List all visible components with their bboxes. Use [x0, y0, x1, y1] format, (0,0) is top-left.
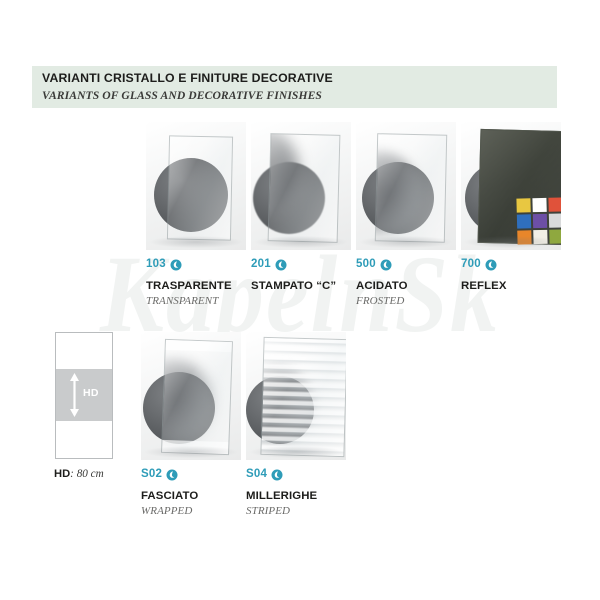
- glass-drop-badge-icon: [380, 259, 392, 271]
- ground-shadow: [465, 236, 557, 248]
- caption-s02: S02 FASCIATO WRAPPED: [141, 468, 198, 518]
- sample-code: 700: [461, 259, 481, 271]
- glass-pane: [260, 337, 346, 457]
- caption-500: 500 ACIDATO FROSTED: [356, 258, 408, 308]
- ground-shadow: [145, 446, 237, 458]
- sample-card-s04[interactable]: [246, 332, 346, 460]
- sample-photo-fasciato: [141, 332, 241, 460]
- sample-code: 500: [356, 259, 376, 271]
- pane-sheen: [261, 338, 346, 456]
- glass-pane: [167, 135, 233, 240]
- code-row-700: 700: [461, 258, 507, 272]
- caption-700: 700 REFLEX: [461, 258, 507, 296]
- code-row-s02: S02: [141, 468, 198, 482]
- hd-caption: HD: 80 cm: [54, 468, 104, 480]
- color-swatch: [516, 198, 531, 213]
- sample-code: S02: [141, 469, 162, 481]
- pane-sheen: [269, 134, 340, 242]
- code-row-s04: S04: [246, 468, 317, 482]
- sample-photo-stampato-c: [251, 122, 351, 250]
- sample-name-en: TRANSPARENT: [146, 296, 232, 308]
- color-swatch: [532, 198, 547, 213]
- page-title: VARIANTI CRISTALLO E FINITURE DECORATIVE: [42, 71, 333, 85]
- sample-name-it: STAMPATO “C”: [251, 281, 336, 293]
- sample-name-it: ACIDATO: [356, 281, 408, 293]
- sample-name-en: WRAPPED: [141, 506, 198, 518]
- sample-code: 103: [146, 259, 166, 271]
- code-row-201: 201: [251, 258, 336, 272]
- pane-sheen: [376, 134, 446, 242]
- sample-card-500[interactable]: [356, 122, 456, 250]
- sample-card-s02[interactable]: [141, 332, 241, 460]
- code-row-103: 103: [146, 258, 232, 272]
- glass-pane: [161, 339, 233, 455]
- hd-caption-bold: HD: [54, 468, 70, 480]
- sample-name-en: STRIPED: [246, 506, 317, 518]
- sample-photo-reflex: [461, 122, 561, 250]
- glass-drop-badge-icon: [170, 259, 182, 271]
- ground-shadow: [360, 236, 452, 248]
- glass-drop-badge-icon: [275, 259, 287, 271]
- color-swatch: [533, 214, 548, 229]
- hd-diagram: HD: [55, 332, 113, 459]
- glass-drop-badge-icon: [166, 469, 178, 481]
- sample-name-it: FASCIATO: [141, 491, 198, 503]
- ground-shadow: [150, 236, 242, 248]
- code-row-500: 500: [356, 258, 408, 272]
- pane-sheen: [162, 340, 232, 454]
- glass-pane: [375, 133, 447, 243]
- glass-drop-badge-icon: [271, 469, 283, 481]
- sample-photo-millerighe: [246, 332, 346, 460]
- hd-inner-label: HD: [83, 387, 99, 399]
- color-swatch: [548, 213, 561, 228]
- glass-drop-badge-icon: [485, 259, 497, 271]
- sample-card-700[interactable]: [461, 122, 561, 250]
- sample-card-103[interactable]: [146, 122, 246, 250]
- caption-201: 201 STAMPATO “C”: [251, 258, 336, 296]
- sample-code: 201: [251, 259, 271, 271]
- hd-double-arrow-icon: [69, 373, 80, 417]
- sample-name-en: FROSTED: [356, 296, 408, 308]
- sample-code: S04: [246, 469, 267, 481]
- sample-card-201[interactable]: [251, 122, 351, 250]
- hd-caption-value: : 80 cm: [70, 468, 104, 480]
- sample-photo-trasparente: [146, 122, 246, 250]
- caption-s04: S04 MILLERIGHE STRIPED: [246, 468, 317, 518]
- glass-pane: [268, 133, 341, 243]
- pane-sheen: [168, 136, 232, 239]
- color-swatch: [548, 197, 561, 212]
- sample-photo-acidato: [356, 122, 456, 250]
- sample-name-it: MILLERIGHE: [246, 491, 317, 503]
- ground-shadow: [255, 236, 347, 248]
- page-subtitle: VARIANTS OF GLASS AND DECORATIVE FINISHE…: [42, 89, 322, 102]
- sample-name-it: REFLEX: [461, 281, 507, 293]
- sample-name-it: TRASPARENTE: [146, 281, 232, 293]
- caption-103: 103 TRASPARENTE TRANSPARENT: [146, 258, 232, 308]
- ground-shadow: [250, 446, 342, 458]
- color-swatch: [517, 214, 532, 229]
